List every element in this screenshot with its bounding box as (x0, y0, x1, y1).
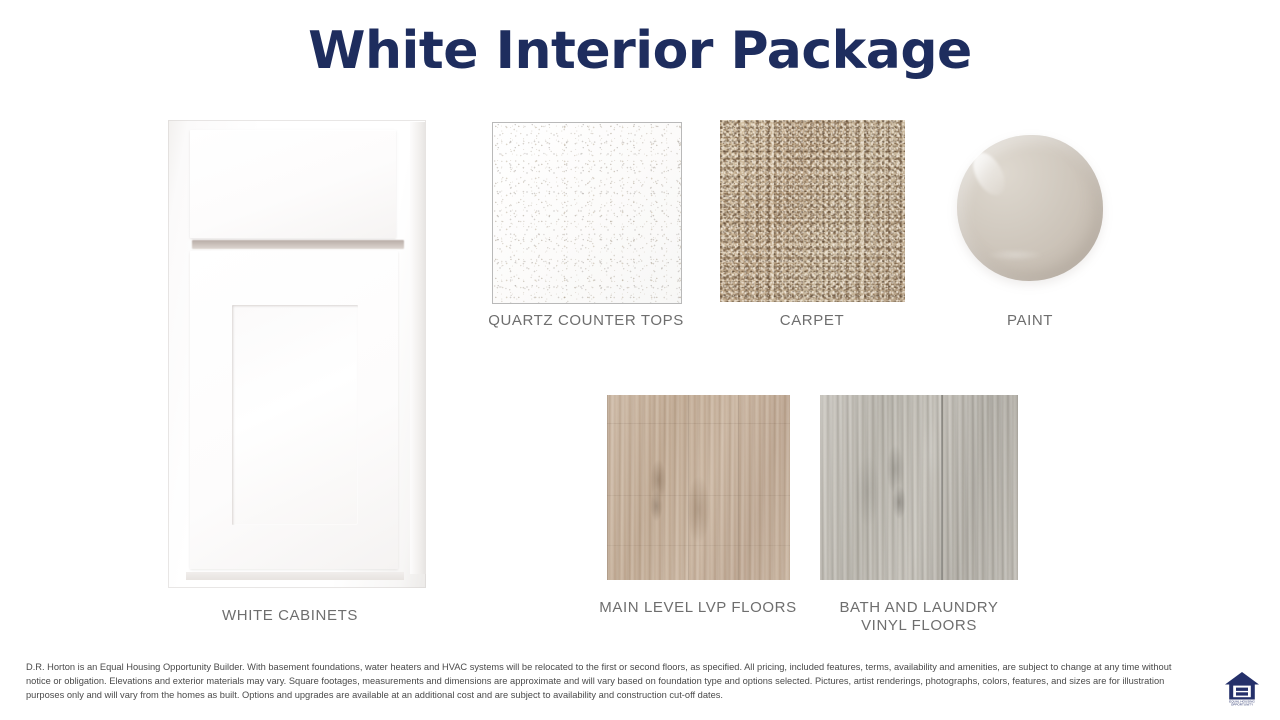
equal-housing-opportunity-logo: EQUAL HOUSING OPPORTUNITY (1222, 668, 1262, 706)
swatch-label-main-level-lvp-floors: MAIN LEVEL LVP FLOORS (578, 599, 818, 617)
cabinet-recessed-panel (232, 305, 358, 525)
page-title: White Interior Package (0, 22, 1280, 82)
swatch-paint (957, 135, 1103, 281)
swatch-white-cabinets (168, 120, 426, 588)
swatch-bath-and-laundry-vinyl-floors (820, 395, 1018, 580)
cabinet-drawer-face (190, 130, 396, 238)
cabinet-side-panel (410, 122, 426, 574)
cabinet-shadow-gap (192, 240, 404, 249)
logo-line2: OPPORTUNITY (1231, 702, 1253, 706)
swatch-label-quartz-counter-tops: QUARTZ COUNTER TOPS (466, 312, 706, 330)
swatch-carpet (720, 120, 905, 302)
swatch-main-level-lvp-floors (607, 395, 790, 580)
swatch-label-carpet: CARPET (692, 312, 932, 330)
swatch-quartz-counter-tops (492, 122, 682, 304)
swatch-label-white-cabinets: WHITE CABINETS (175, 607, 405, 625)
cabinet-base-strip (186, 572, 404, 580)
legal-disclaimer: D.R. Horton is an Equal Housing Opportun… (26, 660, 1198, 702)
cabinet-door-frame (190, 251, 398, 569)
cabinet-body (168, 120, 426, 588)
swatch-label-bath-and-laundry-vinyl-floors: BATH AND LAUNDRY VINYL FLOORS (799, 599, 1039, 636)
swatch-label-paint: PAINT (910, 312, 1150, 330)
